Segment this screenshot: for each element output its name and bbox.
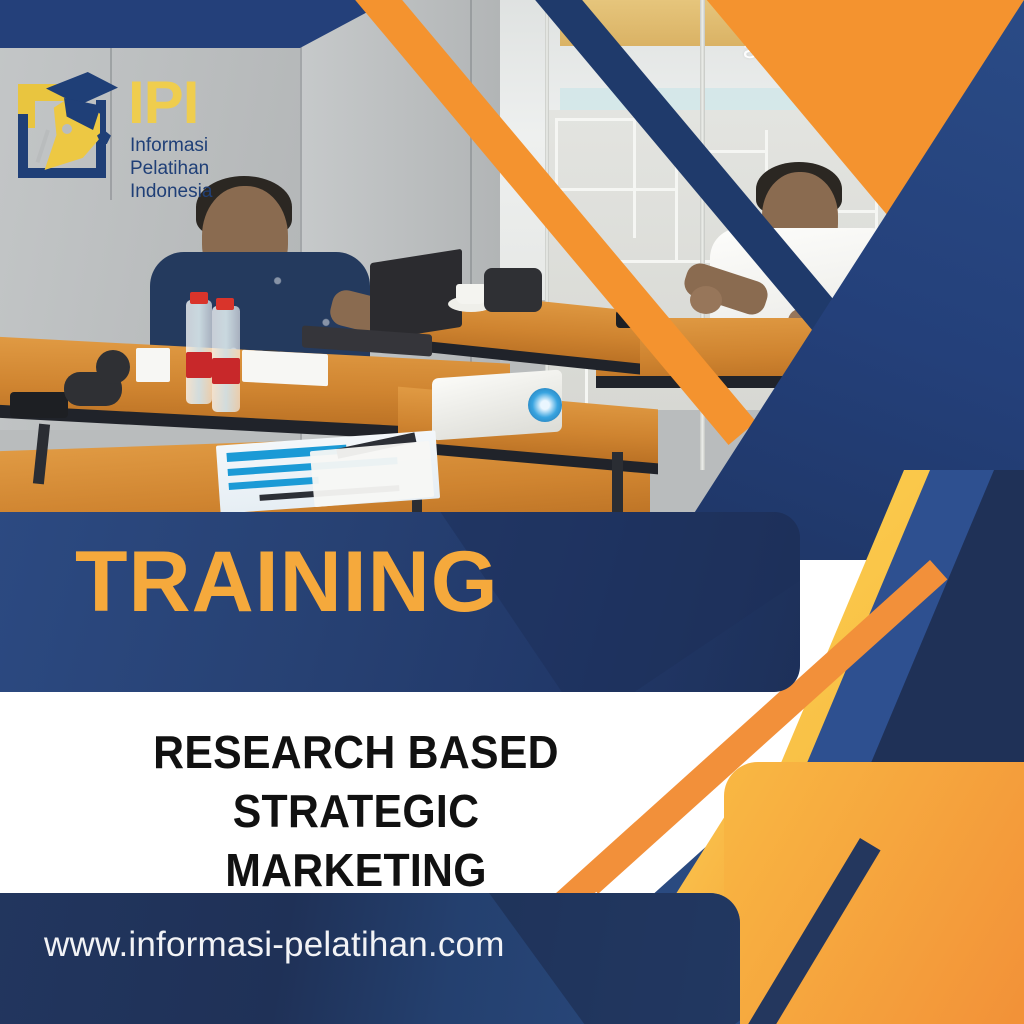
photo-bag	[484, 268, 542, 312]
photo-coffee-cup	[456, 284, 486, 304]
pen-nib-vent-hole	[62, 124, 72, 134]
photo-laptop-screen	[370, 249, 462, 342]
photo-bottle-label-1	[186, 352, 212, 378]
training-banner-label: TRAINING	[75, 539, 499, 625]
website-url[interactable]: www.informasi-pelatihan.com	[44, 925, 505, 965]
course-title: RESEARCH BASED STRATEGIC MARKETING	[0, 723, 712, 900]
photo-object-round	[96, 350, 130, 384]
graduation-cap-pen-nib-icon	[10, 72, 118, 182]
course-title-line-1: RESEARCH BASED STRATEGIC	[25, 723, 687, 841]
poster-canvas: amaris	[0, 0, 1024, 1024]
photo-cup-glass	[136, 348, 170, 382]
decor-orange-block-rounded	[724, 762, 1024, 1024]
photo-bottle-cap-2	[216, 298, 234, 310]
photo-bottle-cap-1	[190, 292, 208, 304]
brand-name-line-3: Indonesia	[130, 180, 212, 203]
course-title-line-2: MARKETING	[25, 841, 687, 900]
photo-paper-left	[242, 350, 328, 387]
photo-phone-left	[10, 392, 68, 418]
brand-name: Informasi Pelatihan Indonesia	[130, 134, 212, 204]
photo-paper-foreground	[310, 441, 434, 507]
brand-name-line-1: Informasi	[130, 134, 212, 157]
brand-name-line-2: Pelatihan	[130, 157, 212, 180]
brand-logo[interactable]: IPI Informasi Pelatihan Indonesia	[10, 72, 225, 192]
brand-acronym: IPI	[128, 74, 198, 131]
photo-projector-lens	[528, 388, 562, 422]
photo-bottle-label-2	[212, 358, 240, 384]
